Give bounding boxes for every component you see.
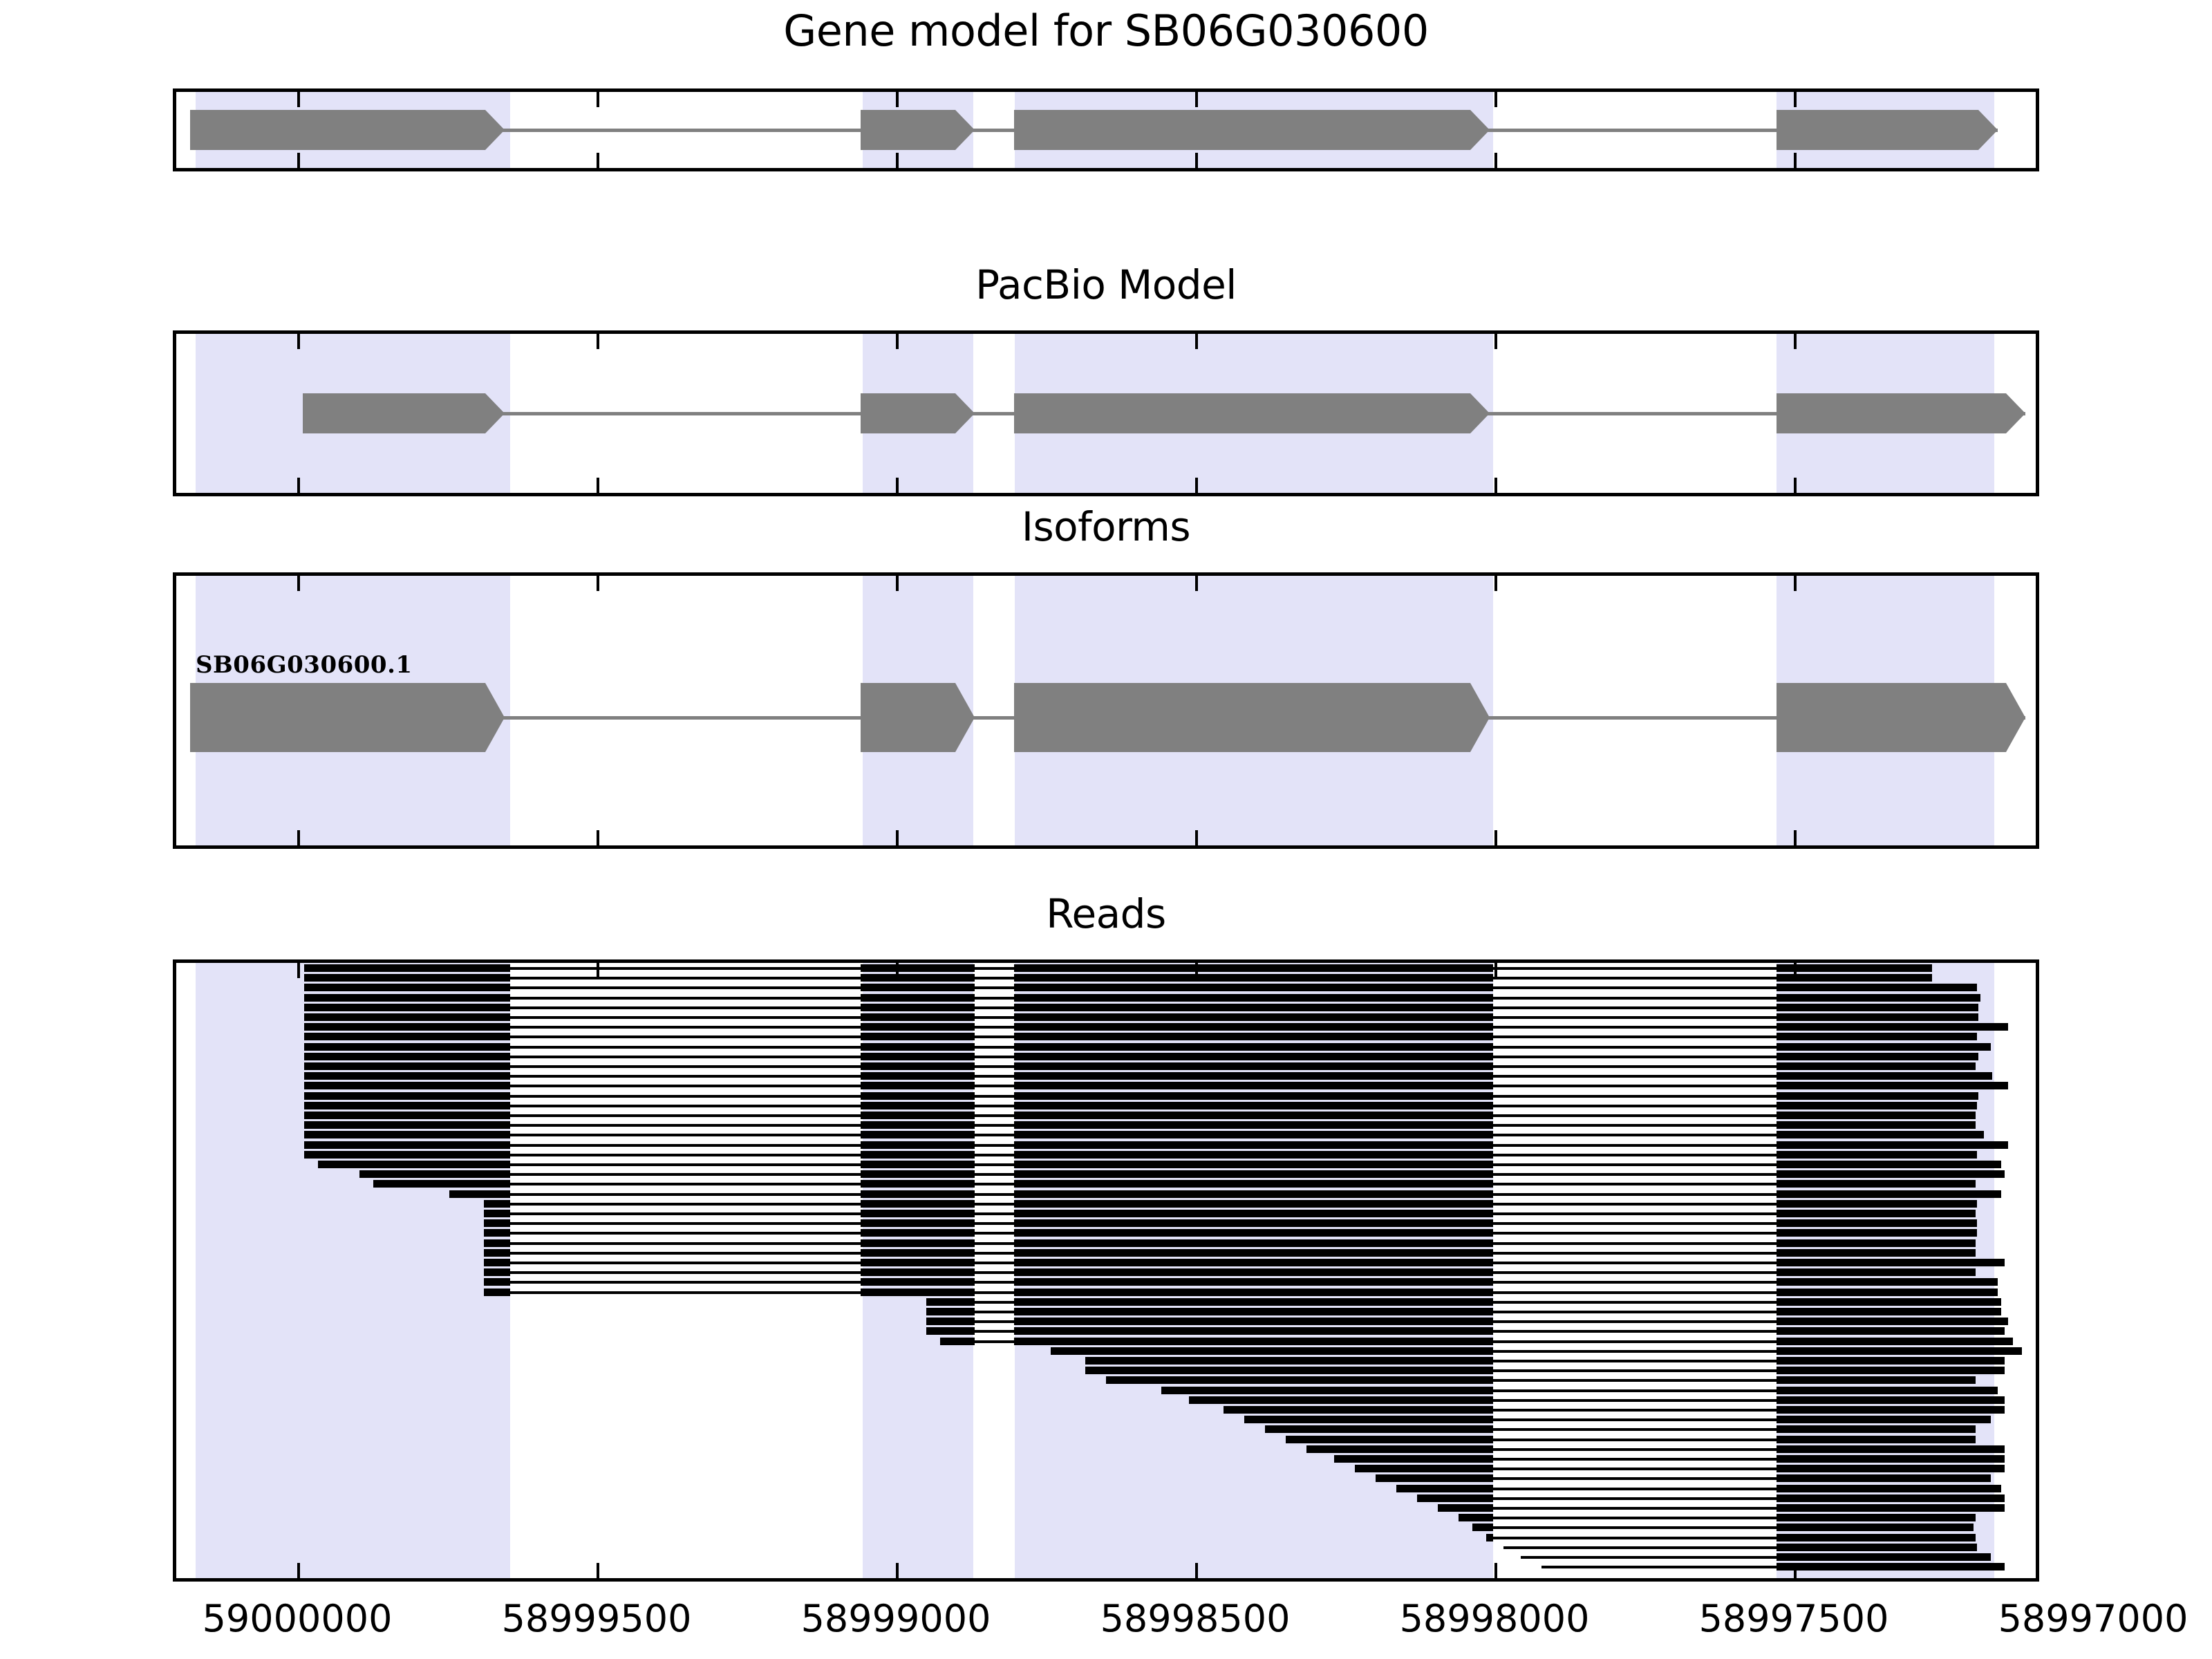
read-alignment — [176, 1131, 2036, 1138]
x-tick-mark-5 — [1494, 478, 1497, 493]
read-exon-1 — [1334, 1455, 1493, 1463]
read-exon-2 — [861, 1210, 975, 1217]
read-alignment — [176, 1327, 2036, 1335]
read-exon-4 — [1998, 1338, 2013, 1345]
read-alignment — [176, 1161, 2036, 1168]
read-exon-1 — [1085, 1367, 1493, 1374]
read-exon-3 — [1777, 1298, 1998, 1306]
read-alignment — [176, 1278, 2036, 1286]
read-exon-1 — [1777, 1563, 1998, 1571]
x-tick-label-4: 58998500 — [1100, 1597, 1291, 1640]
read-exon-4 — [1777, 1161, 1998, 1168]
x-tick-label-3: 58999000 — [801, 1597, 991, 1640]
read-alignment — [176, 1239, 2036, 1247]
read-exon-3 — [1014, 1121, 1493, 1129]
panel-title-isoforms: Isoforms — [0, 503, 2212, 550]
x-tick-label-6: 58997500 — [1699, 1597, 1889, 1640]
read-exon-2 — [1777, 1465, 1998, 1472]
x-tick-mark-4 — [1195, 478, 1198, 493]
read-exon-1 — [304, 974, 510, 982]
read-exon-2 — [861, 1033, 975, 1040]
read-exon-2 — [1998, 1563, 2005, 1571]
read-exon-1 — [484, 1249, 510, 1257]
x-tick-mark-6 — [1794, 478, 1797, 493]
read-exon-1 — [484, 1278, 510, 1286]
x-tick-mark-4 — [1195, 153, 1198, 168]
read-exon-2 — [1777, 1357, 1998, 1365]
x-tick-mark-6 — [1794, 92, 1797, 107]
read-exon-1 — [484, 1210, 510, 1217]
read-exon-3 — [1014, 1190, 1493, 1198]
x-tick-mark-2 — [597, 830, 599, 845]
read-exon-2 — [861, 1200, 975, 1208]
read-exon-4 — [1777, 1210, 1976, 1217]
read-exon-4 — [1777, 1239, 1976, 1247]
read-exon-3 — [1014, 1112, 1493, 1119]
x-tick-label-2: 58999500 — [502, 1597, 692, 1640]
read-exon-1 — [1376, 1474, 1493, 1482]
read-alignment — [176, 1318, 2036, 1325]
x-tick-mark-4 — [1195, 92, 1198, 107]
page-title: Gene model for SB06G030600 — [0, 6, 2212, 56]
read-exon-4 — [1777, 974, 1932, 982]
read-alignment — [176, 1288, 2036, 1296]
panel-title-reads: Reads — [0, 890, 2212, 937]
read-exon-2 — [1777, 1425, 1976, 1433]
read-exon-4 — [1777, 1023, 1998, 1031]
read-exon-2 — [861, 1259, 975, 1266]
read-exon-1 — [304, 984, 510, 991]
read-exon-4 — [1777, 1112, 1976, 1119]
read-exon-3 — [1998, 1445, 2005, 1453]
read-exon-2 — [861, 1131, 975, 1138]
read-exon-4 — [1777, 1102, 1977, 1109]
read-alignment — [176, 1553, 2036, 1561]
read-exon-5 — [1998, 1190, 2001, 1198]
read-exon-1 — [1777, 1553, 1991, 1561]
read-exon-2 — [1777, 1485, 1998, 1492]
read-exon-1 — [1459, 1514, 1493, 1521]
read-exon-2 — [861, 1151, 975, 1159]
read-exon-1 — [926, 1318, 975, 1325]
panel-reads — [173, 959, 2039, 1582]
read-alignment — [176, 1268, 2036, 1276]
read-alignment — [176, 1563, 2036, 1571]
read-exon-1 — [304, 1121, 510, 1129]
read-exon-3 — [1014, 974, 1493, 982]
read-exon-2 — [861, 1170, 975, 1178]
read-alignment — [176, 964, 2036, 972]
read-exon-3 — [1014, 1200, 1493, 1208]
read-exon-4 — [1777, 1219, 1977, 1227]
read-exon-2 — [1777, 1514, 1976, 1521]
exon-2 — [861, 683, 975, 752]
read-exon-1 — [1306, 1445, 1493, 1453]
read-exon-1 — [1472, 1524, 1493, 1531]
read-exon-3 — [1014, 1072, 1493, 1080]
read-alignment — [176, 1494, 2036, 1502]
read-exon-1 — [304, 1062, 510, 1070]
read-alignment — [176, 994, 2036, 1002]
read-alignment — [176, 1338, 2036, 1345]
read-exon-4 — [1998, 1308, 2001, 1315]
read-alignment — [176, 1367, 2036, 1374]
read-exon-3 — [1998, 1406, 2005, 1414]
read-exon-3 — [1998, 1396, 2005, 1404]
read-exon-3 — [1998, 1504, 2005, 1512]
read-exon-3 — [1014, 1249, 1493, 1257]
read-exon-3 — [1014, 1013, 1493, 1021]
read-exon-3 — [1014, 1268, 1493, 1276]
read-exon-2 — [861, 974, 975, 982]
read-exon-5 — [1998, 1259, 2005, 1266]
x-tick-label-7: 58997000 — [1998, 1597, 2188, 1640]
read-exon-2 — [861, 1161, 975, 1168]
read-exon-4 — [1777, 1062, 1976, 1070]
read-exon-2 — [861, 1092, 975, 1100]
read-exon-3 — [1014, 1033, 1493, 1040]
read-exon-4 — [1777, 1249, 1976, 1257]
read-alignment — [176, 1190, 2036, 1198]
read-exon-1 — [449, 1190, 510, 1198]
x-tick-mark-5 — [1494, 334, 1497, 349]
read-exon-2 — [1777, 1396, 1998, 1404]
x-tick-mark-4 — [1195, 576, 1198, 591]
x-tick-mark-3 — [896, 830, 899, 845]
read-exon-2 — [1777, 1445, 1998, 1453]
read-exon-3 — [1998, 1357, 2005, 1365]
read-exon-5 — [1998, 1023, 2008, 1031]
read-exon-1 — [304, 1053, 510, 1060]
read-exon-5 — [1998, 1161, 2001, 1168]
read-exon-4 — [1777, 1259, 1998, 1266]
read-exon-1 — [304, 1082, 510, 1089]
read-exon-4 — [1777, 964, 1932, 972]
exon-3 — [1014, 683, 1490, 752]
panel-pacbio-model — [173, 330, 2039, 496]
read-exon-3 — [1014, 1180, 1493, 1188]
read-exon-5 — [1998, 1170, 2005, 1178]
read-exon-4 — [1777, 1229, 1977, 1237]
read-exon-1 — [304, 964, 510, 972]
read-exon-3 — [1014, 1170, 1493, 1178]
read-alignment — [176, 1425, 2036, 1433]
read-exon-2 — [861, 1072, 975, 1080]
read-alignment — [176, 1053, 2036, 1060]
read-alignment — [176, 1092, 2036, 1100]
read-exon-4 — [1777, 1072, 1992, 1080]
read-exon-2 — [861, 1141, 975, 1149]
x-tick-mark-2 — [597, 576, 599, 591]
read-exon-3 — [1014, 964, 1493, 972]
read-exon-3 — [1014, 1259, 1493, 1266]
read-exon-3 — [1014, 1043, 1493, 1051]
x-tick-mark-5 — [1494, 830, 1497, 845]
exon-3 — [1014, 393, 1490, 433]
read-exon-3 — [1014, 1278, 1493, 1286]
read-exon-4 — [1777, 1082, 1998, 1089]
read-alignment — [176, 1534, 2036, 1541]
read-exon-4 — [1777, 1092, 1978, 1100]
read-exon-3 — [1777, 1327, 1998, 1335]
read-alignment — [176, 1210, 2036, 1217]
read-exon-3 — [1014, 1131, 1493, 1138]
read-exon-1 — [359, 1170, 510, 1178]
read-exon-4 — [1777, 1013, 1978, 1021]
x-tick-mark-6 — [1794, 334, 1797, 349]
read-alignment — [176, 1474, 2036, 1482]
read-alignment — [176, 1416, 2036, 1423]
read-exon-3 — [1014, 1239, 1493, 1247]
x-tick-mark-3 — [896, 92, 899, 107]
panel-gene-model — [173, 88, 2039, 171]
read-exon-2 — [861, 1268, 975, 1276]
read-exon-2 — [1777, 1406, 1998, 1414]
read-exon-2 — [861, 1278, 975, 1286]
read-alignment — [176, 1023, 2036, 1031]
x-tick-label-1: 59000000 — [203, 1597, 393, 1640]
read-exon-3 — [1014, 994, 1493, 1002]
read-alignment — [176, 1357, 2036, 1365]
x-tick-mark-2 — [597, 334, 599, 349]
read-alignment — [176, 1406, 2036, 1414]
read-exon-2 — [1777, 1524, 1974, 1531]
read-exon-3 — [1014, 1219, 1493, 1227]
read-exon-4 — [1777, 1268, 1976, 1276]
exon-4 — [1777, 110, 1998, 150]
read-exon-1 — [1286, 1436, 1493, 1443]
read-exon-2 — [861, 994, 975, 1002]
read-exon-1 — [304, 1013, 510, 1021]
read-alignment — [176, 1004, 2036, 1011]
isoform-label: SB06G030600.1 — [196, 651, 413, 679]
read-exon-1 — [304, 1072, 510, 1080]
read-exon-3 — [1014, 1102, 1493, 1109]
x-tick-mark-3 — [896, 334, 899, 349]
read-exon-1 — [304, 1131, 510, 1138]
read-exon-2 — [1777, 1367, 1998, 1374]
read-exon-4 — [1777, 1004, 1978, 1011]
read-exon-2 — [1014, 1318, 1493, 1325]
read-exon-1 — [1438, 1504, 1493, 1512]
read-exon-4 — [1777, 1278, 1998, 1286]
read-exon-1 — [304, 1141, 510, 1149]
read-exon-1 — [304, 1033, 510, 1040]
x-tick-mark-3 — [896, 478, 899, 493]
read-exon-1 — [940, 1338, 975, 1345]
read-alignment — [176, 1308, 2036, 1315]
read-exon-3 — [1998, 1347, 2022, 1355]
exon-1 — [303, 393, 505, 433]
read-exon-2 — [861, 1249, 975, 1257]
read-exon-3 — [1014, 1210, 1493, 1217]
read-exon-2 — [861, 984, 975, 991]
read-exon-1 — [484, 1288, 510, 1296]
read-alignment — [176, 1387, 2036, 1394]
exon-2 — [861, 393, 975, 433]
read-exon-1 — [926, 1327, 975, 1335]
panel-isoforms: SB06G030600.1 — [173, 572, 2039, 849]
read-exon-3 — [1014, 1229, 1493, 1237]
exon-3 — [1014, 110, 1490, 150]
read-alignment — [176, 1249, 2036, 1257]
read-exon-4 — [1777, 1131, 1984, 1138]
read-alignment — [176, 1504, 2036, 1512]
read-exon-2 — [1777, 1504, 1998, 1512]
read-alignment — [176, 1259, 2036, 1266]
read-exon-1 — [318, 1161, 510, 1168]
read-exon-2 — [861, 964, 975, 972]
read-alignment — [176, 1219, 2036, 1227]
read-exon-4 — [1777, 1151, 1977, 1159]
read-exon-3 — [1998, 1367, 2005, 1374]
read-exon-1 — [1085, 1357, 1493, 1365]
read-exon-2 — [1777, 1387, 1998, 1394]
exon-4 — [1777, 683, 2025, 752]
read-exon-2 — [861, 1190, 975, 1198]
read-exon-2 — [1777, 1347, 1998, 1355]
read-exon-1 — [1417, 1494, 1493, 1502]
read-exon-2 — [1014, 1327, 1493, 1335]
read-exon-3 — [1777, 1338, 1998, 1345]
read-exon-3 — [1998, 1494, 2005, 1502]
x-tick-mark-1 — [297, 334, 300, 349]
gene-model-figure: Gene model for SB06G030600 PacBio Model … — [0, 0, 2212, 1659]
x-tick-label-5: 58998000 — [1400, 1597, 1590, 1640]
read-exon-2 — [1777, 1436, 1976, 1443]
exon-1 — [190, 110, 505, 150]
x-tick-mark-5 — [1494, 92, 1497, 107]
x-tick-mark-2 — [597, 478, 599, 493]
read-exon-1 — [1244, 1416, 1493, 1423]
read-exon-2 — [861, 1102, 975, 1109]
read-exon-1 — [1161, 1387, 1493, 1394]
read-exon-1 — [1224, 1406, 1493, 1414]
exon-2 — [861, 110, 975, 150]
x-tick-mark-6 — [1794, 576, 1797, 591]
read-exon-3 — [1014, 1053, 1493, 1060]
read-exon-2 — [1777, 1455, 1998, 1463]
read-exon-2 — [1014, 1308, 1493, 1315]
read-exon-1 — [1355, 1465, 1493, 1472]
read-exon-1 — [1106, 1376, 1493, 1384]
read-alignment — [176, 1121, 2036, 1129]
read-exon-3 — [1998, 1455, 2005, 1463]
x-tick-mark-3 — [896, 576, 899, 591]
read-alignment — [176, 1151, 2036, 1159]
read-exon-1 — [1051, 1347, 1493, 1355]
read-alignment — [176, 1514, 2036, 1521]
read-exon-2 — [861, 1004, 975, 1011]
read-exon-3 — [1014, 1161, 1493, 1168]
x-tick-mark-4 — [1195, 830, 1198, 845]
read-exon-4 — [1998, 1327, 2005, 1335]
read-exon-4 — [1777, 1033, 1977, 1040]
read-exon-2 — [861, 1239, 975, 1247]
read-exon-2 — [861, 1043, 975, 1051]
read-alignment — [176, 1180, 2036, 1188]
read-exon-1 — [304, 1043, 510, 1051]
read-alignment — [176, 1112, 2036, 1119]
read-exon-2 — [1014, 1298, 1493, 1306]
read-alignment — [176, 1347, 2036, 1355]
read-exon-3 — [1014, 1023, 1493, 1031]
read-exon-1 — [484, 1239, 510, 1247]
read-alignment — [176, 1445, 2036, 1453]
read-exon-4 — [1777, 1180, 1976, 1188]
x-tick-mark-1 — [297, 830, 300, 845]
panel-title-pacbio: PacBio Model — [0, 261, 2212, 308]
read-exon-2 — [861, 1229, 975, 1237]
read-exon-1 — [484, 1229, 510, 1237]
read-exon-3 — [1014, 1062, 1493, 1070]
x-tick-mark-5 — [1494, 576, 1497, 591]
read-exon-2 — [861, 1053, 975, 1060]
read-alignment — [176, 1396, 2036, 1404]
x-tick-mark-1 — [297, 478, 300, 493]
read-exon-4 — [1777, 1200, 1977, 1208]
x-tick-mark-6 — [1794, 830, 1797, 845]
x-tick-mark-2 — [597, 153, 599, 168]
x-tick-mark-1 — [297, 153, 300, 168]
read-alignment — [176, 1102, 2036, 1109]
read-exon-3 — [1777, 1318, 1998, 1325]
read-exon-2 — [861, 1121, 975, 1129]
read-alignment — [176, 1436, 2036, 1443]
read-exon-1 — [1189, 1396, 1493, 1404]
read-exon-2 — [861, 1023, 975, 1031]
read-alignment — [176, 1465, 2036, 1472]
x-tick-mark-6 — [1794, 153, 1797, 168]
read-exon-4 — [1777, 1190, 1998, 1198]
x-tick-mark-5 — [1494, 153, 1497, 168]
exon-1 — [190, 683, 505, 752]
read-exon-3 — [1998, 1485, 2001, 1492]
read-exon-1 — [373, 1180, 510, 1188]
read-exon-1 — [1265, 1425, 1493, 1433]
read-exon-4 — [1777, 1288, 1998, 1296]
read-exon-4 — [1777, 984, 1977, 991]
read-exon-2 — [861, 1288, 975, 1296]
read-exon-1 — [484, 1259, 510, 1266]
read-exon-4 — [1998, 1298, 2001, 1306]
read-exon-3 — [1014, 1288, 1493, 1296]
read-alignment — [176, 1544, 2036, 1551]
read-exon-2 — [1777, 1474, 1991, 1482]
read-alignment — [176, 1200, 2036, 1208]
read-alignment — [176, 1455, 2036, 1463]
read-alignment — [176, 1170, 2036, 1178]
x-tick-mark-3 — [896, 153, 899, 168]
read-exon-2 — [1777, 1416, 1991, 1423]
x-tick-mark-1 — [297, 576, 300, 591]
read-exon-1 — [1777, 1544, 1977, 1551]
read-exon-1 — [926, 1308, 975, 1315]
read-exon-4 — [1777, 1053, 1978, 1060]
exon-4 — [1777, 393, 2025, 433]
read-exon-1 — [304, 1151, 510, 1159]
read-alignment — [176, 1062, 2036, 1070]
read-exon-2 — [1777, 1534, 1976, 1541]
read-alignment — [176, 1298, 2036, 1306]
read-exon-1 — [1396, 1485, 1493, 1492]
read-exon-3 — [1014, 1151, 1493, 1159]
read-exon-5 — [1998, 1082, 2008, 1089]
read-exon-1 — [484, 1268, 510, 1276]
read-exon-1 — [304, 1112, 510, 1119]
read-exon-4 — [1777, 1170, 1998, 1178]
read-alignment — [176, 1043, 2036, 1051]
